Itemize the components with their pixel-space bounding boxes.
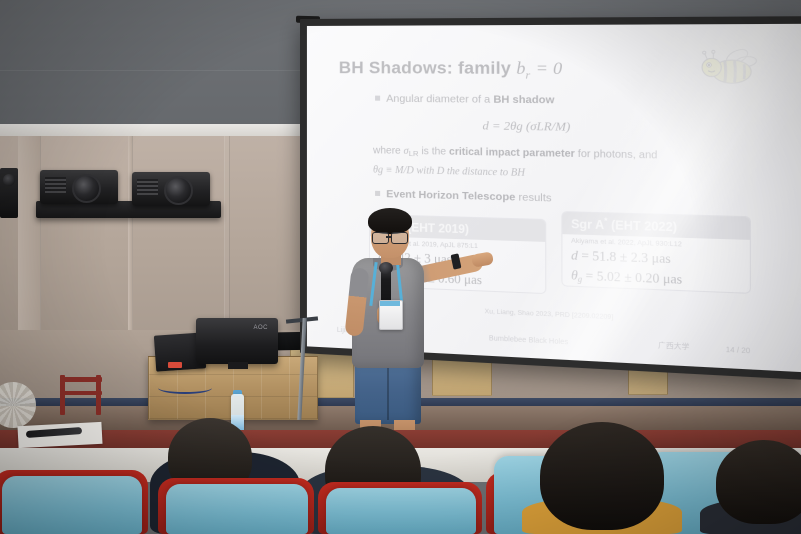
projector-2 xyxy=(132,172,210,206)
slide-title-symbol: b xyxy=(516,58,525,78)
sgra-row1-value: = 51.8 ± 2.3 μas xyxy=(581,248,670,266)
bullet-1-text: Angular diameter of a xyxy=(386,93,493,106)
slide-title-equation: = 0 xyxy=(536,58,563,78)
red-chair xyxy=(60,375,102,415)
card-sgra-name: Sgr A xyxy=(571,218,604,232)
bullet-1-bold: BH shadow xyxy=(493,93,554,106)
slide-footer-page-number: 14 / 20 xyxy=(726,347,751,356)
card-sgra-eht: (EHT 2022) xyxy=(611,220,677,235)
slide-note-line-2: θg ≡ M/D with D the distance to BH xyxy=(373,164,525,178)
note-1-bold: critical impact parameter xyxy=(449,146,575,160)
microphone-head-icon xyxy=(379,262,393,274)
cable xyxy=(158,382,212,394)
bullet-2-text: results xyxy=(515,191,551,204)
slide-note-line-1: where σLR is the critical impact paramet… xyxy=(373,145,657,162)
slide-footer-university: 广西大学 xyxy=(658,340,689,352)
card-sgra-star: * xyxy=(604,216,607,226)
laptop-sticker xyxy=(168,362,182,368)
speaker-badge-header xyxy=(380,301,400,306)
slide-title-text: BH Shadows: family xyxy=(339,58,511,78)
sgra-row2-sub: g xyxy=(578,274,582,284)
attendee-right-orange-head xyxy=(540,422,664,530)
note-1-suffix: for photons, and xyxy=(575,149,658,162)
sgra-row2-value: = 5.02 ± 0.20 μas xyxy=(586,268,683,286)
result-card-sgra: Sgr A* (EHT 2022) Akiyama et al. 2022, A… xyxy=(561,211,751,294)
projector-lens-icon xyxy=(72,174,101,203)
note-1-subscript: LR xyxy=(409,149,419,158)
attendee-far-right-head xyxy=(716,440,801,524)
monitor-stand xyxy=(228,362,248,369)
sgra-row1-symbol: d xyxy=(571,248,578,263)
monitor-brand-label: AOC xyxy=(253,325,268,331)
desktop-monitor: AOC xyxy=(196,318,278,364)
seat-3 xyxy=(326,488,476,534)
speaker-shorts-seam xyxy=(387,364,389,420)
bumblebee-icon xyxy=(698,43,760,86)
slide-footer-title: Bumblebee Black Holes xyxy=(489,335,568,346)
slide-title-subscript: r xyxy=(526,69,531,82)
seat-1 xyxy=(2,476,142,534)
note-1-prefix: where xyxy=(373,145,404,157)
lecture-hall-photo: BH Shadows: family br = 0 xyxy=(0,0,801,534)
card-m87-eht: (EHT 2019) xyxy=(407,222,469,236)
wall-speaker xyxy=(0,168,18,218)
projector-vent-icon xyxy=(45,177,66,193)
bullet-square-icon xyxy=(375,96,380,101)
bullet-2-bold: Event Horizon Telescope xyxy=(386,188,515,204)
equation-text: d = 2θg (σLR/M) xyxy=(482,118,570,134)
speaker-glasses-left-lens xyxy=(372,232,389,244)
slide-bullet-1: Angular diameter of a BH shadow xyxy=(375,93,554,107)
slide-equation-main: d = 2θg (σLR/M) xyxy=(482,118,570,135)
speaker-glasses-bridge xyxy=(386,236,392,238)
slide-title: BH Shadows: family br = 0 xyxy=(339,58,563,82)
seat-2 xyxy=(166,484,308,534)
projector-lens-icon xyxy=(164,176,193,205)
bullet-square-icon xyxy=(375,191,380,196)
speaker-cone-icon xyxy=(3,174,15,186)
note-2-text: θg ≡ M/D with D the distance to BH xyxy=(373,164,525,178)
speaker-glasses-right-lens xyxy=(391,232,408,244)
slide-reference: Xu, Liang, Shao 2023, PRD [2209.02209] xyxy=(485,308,614,321)
projector-1 xyxy=(40,170,118,204)
speaker-hair xyxy=(368,208,412,234)
projector-vent-icon xyxy=(137,179,158,195)
note-1-mid: is the xyxy=(419,146,449,158)
slide-bullet-2: Event Horizon Telescope results xyxy=(375,188,552,205)
